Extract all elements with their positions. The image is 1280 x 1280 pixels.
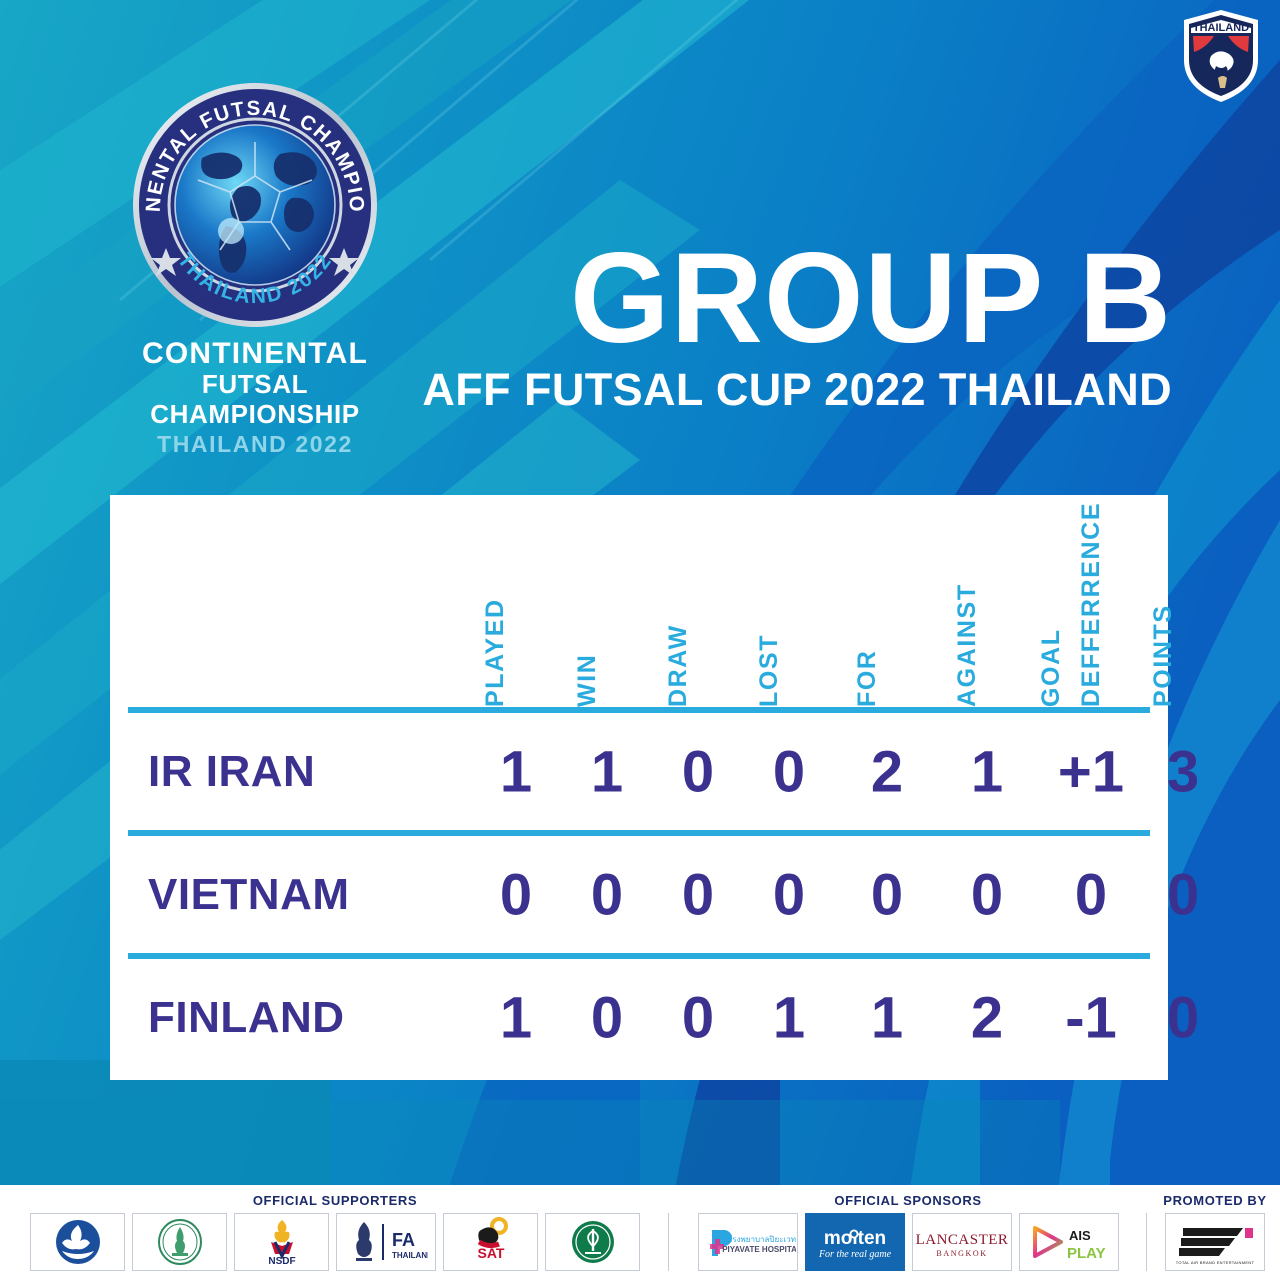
ministry-public-health-logo[interactable] bbox=[545, 1213, 640, 1271]
official-supporters-group: OFFICIAL SUPPORTERS bbox=[18, 1185, 652, 1280]
cell-win: 1 bbox=[591, 738, 623, 805]
lancaster-logo-text: LANCASTER bbox=[915, 1232, 1008, 1248]
cell-win: 0 bbox=[591, 984, 623, 1051]
team-name: FINLAND bbox=[148, 993, 345, 1043]
team-name: IR IRAN bbox=[148, 747, 315, 797]
fbi-logo[interactable]: TOTAL AIR BRAND ENTERTAINMENT bbox=[1165, 1213, 1265, 1271]
column-header-lost: LOST bbox=[755, 634, 784, 707]
promoted-by-group: PROMOTED BY TOTAL AIR BRAND ENTERTAINMEN… bbox=[1160, 1185, 1270, 1280]
cell-against: 0 bbox=[971, 861, 1003, 928]
cell-for: 1 bbox=[871, 984, 903, 1051]
cell-points: 0 bbox=[1167, 984, 1199, 1051]
cell-draw: 0 bbox=[682, 861, 714, 928]
page-title: GROUP B bbox=[422, 238, 1172, 360]
official-supporters-label: OFFICIAL SUPPORTERS bbox=[18, 1193, 652, 1208]
official-sponsors-group: OFFICIAL SPONSORS โรงพยาบาลปิยะเวท PIYAV… bbox=[684, 1185, 1132, 1280]
column-header-draw: DRAW bbox=[664, 624, 693, 707]
continental-futsal-championship-crest-icon: CONTINENTAL FUTSAL CHAMPIONSHIP THAILAND… bbox=[130, 80, 380, 330]
column-header-points: POINTS bbox=[1149, 604, 1178, 707]
table-header-row: PLAYED WIN DRAW LOST FOR AGAINST GOAL DE… bbox=[110, 495, 1168, 707]
svg-text:TOTAL AIR BRAND ENTERTAINMENT: TOTAL AIR BRAND ENTERTAINMENT bbox=[1176, 1260, 1255, 1265]
cell-lost: 0 bbox=[773, 738, 805, 805]
piyavate-hospital-logo[interactable]: โรงพยาบาลปิยะเวท PIYAVATE HOSPITAL bbox=[698, 1213, 798, 1271]
standings-card: PLAYED WIN DRAW LOST FOR AGAINST GOAL DE… bbox=[110, 495, 1168, 1080]
column-header-defference: DEFFERRENCE bbox=[1077, 502, 1106, 707]
cell-points: 0 bbox=[1167, 861, 1199, 928]
column-header-against: AGAINST bbox=[953, 583, 982, 707]
lancaster-logo[interactable]: LANCASTER BANGKOK bbox=[912, 1213, 1012, 1271]
cell-draw: 0 bbox=[682, 738, 714, 805]
footer-separator bbox=[668, 1213, 669, 1271]
cell-against: 2 bbox=[971, 984, 1003, 1051]
header: CONTINENTAL FUTSAL CHAMPIONSHIP THAILAND… bbox=[0, 0, 1280, 470]
cell-played: 1 bbox=[500, 984, 532, 1051]
svg-text:โรงพยาบาลปิยะเวท: โรงพยาบาลปิยะเวท bbox=[728, 1234, 796, 1244]
event-logo-block: CONTINENTAL FUTSAL CHAMPIONSHIP THAILAND… bbox=[110, 80, 400, 458]
logo-line-3: THAILAND 2022 bbox=[110, 431, 400, 459]
cell-played: 1 bbox=[500, 738, 532, 805]
team-name: VIETNAM bbox=[148, 870, 350, 920]
cell-lost: 1 bbox=[773, 984, 805, 1051]
thailand-fa-badge-icon: THAILAND bbox=[1180, 8, 1262, 104]
green-emblem-logo[interactable] bbox=[132, 1213, 227, 1271]
cell-gd: +1 bbox=[1058, 738, 1124, 805]
svg-text:AIS: AIS bbox=[1069, 1228, 1091, 1243]
promoted-by-label: PROMOTED BY bbox=[1160, 1193, 1270, 1208]
lancaster-logo-tagline: BANGKOK bbox=[936, 1249, 987, 1258]
page-subtitle: AFF FUTSAL CUP 2022 THAILAND bbox=[422, 366, 1172, 413]
footer-separator bbox=[1146, 1213, 1147, 1271]
nsdf-logo[interactable]: NSDF bbox=[234, 1213, 329, 1271]
cell-against: 1 bbox=[971, 738, 1003, 805]
cell-for: 2 bbox=[871, 738, 903, 805]
molten-logo[interactable]: molten For the real game bbox=[805, 1213, 905, 1271]
sat-logo[interactable]: SAT bbox=[443, 1213, 538, 1271]
piyavate-hospital-text: PIYAVATE HOSPITAL bbox=[722, 1245, 796, 1254]
svg-text:FA: FA bbox=[392, 1230, 415, 1250]
ais-play-logo[interactable]: AIS PLAY bbox=[1019, 1213, 1119, 1271]
nsdf-logo-text: NSDF bbox=[268, 1256, 295, 1267]
column-header-played: PLAYED bbox=[481, 598, 510, 707]
cell-lost: 0 bbox=[773, 861, 805, 928]
column-header-for: FOR bbox=[853, 649, 882, 707]
table-row: VIETNAM 0 0 0 0 0 0 0 0 bbox=[110, 836, 1168, 953]
cell-win: 0 bbox=[591, 861, 623, 928]
cell-gd: -1 bbox=[1065, 984, 1117, 1051]
svg-text:PLAY: PLAY bbox=[1067, 1245, 1106, 1262]
fa-badge-label: THAILAND bbox=[1193, 22, 1249, 34]
cell-draw: 0 bbox=[682, 984, 714, 1051]
column-header-win: WIN bbox=[573, 654, 602, 707]
cell-points: 3 bbox=[1167, 738, 1199, 805]
sat-logo-text: SAT bbox=[477, 1245, 504, 1261]
logo-line-2: FUTSAL CHAMPIONSHIP bbox=[110, 370, 400, 428]
fa-thailand-logo[interactable]: FA THAILAND bbox=[336, 1213, 436, 1271]
sponsor-footer: OFFICIAL SUPPORTERS bbox=[0, 1185, 1280, 1280]
royal-seal-logo[interactable] bbox=[30, 1213, 125, 1271]
cell-for: 0 bbox=[871, 861, 903, 928]
table-row: FINLAND 1 0 0 1 1 2 -1 0 bbox=[110, 959, 1168, 1076]
cell-gd: 0 bbox=[1075, 861, 1107, 928]
logo-line-1: CONTINENTAL bbox=[110, 338, 400, 370]
title-block: GROUP B AFF FUTSAL CUP 2022 THAILAND bbox=[422, 238, 1172, 413]
table-row: IR IRAN 1 1 0 0 2 1 +1 3 bbox=[110, 713, 1168, 830]
official-sponsors-label: OFFICIAL SPONSORS bbox=[684, 1193, 1132, 1208]
table-body: IR IRAN 1 1 0 0 2 1 +1 3 VIETNAM 0 0 0 0… bbox=[110, 707, 1168, 1076]
molten-logo-tagline: For the real game bbox=[817, 1249, 891, 1260]
column-header-goal: GOAL bbox=[1037, 628, 1066, 707]
svg-text:THAILAND: THAILAND bbox=[392, 1251, 428, 1260]
cell-played: 0 bbox=[500, 861, 532, 928]
